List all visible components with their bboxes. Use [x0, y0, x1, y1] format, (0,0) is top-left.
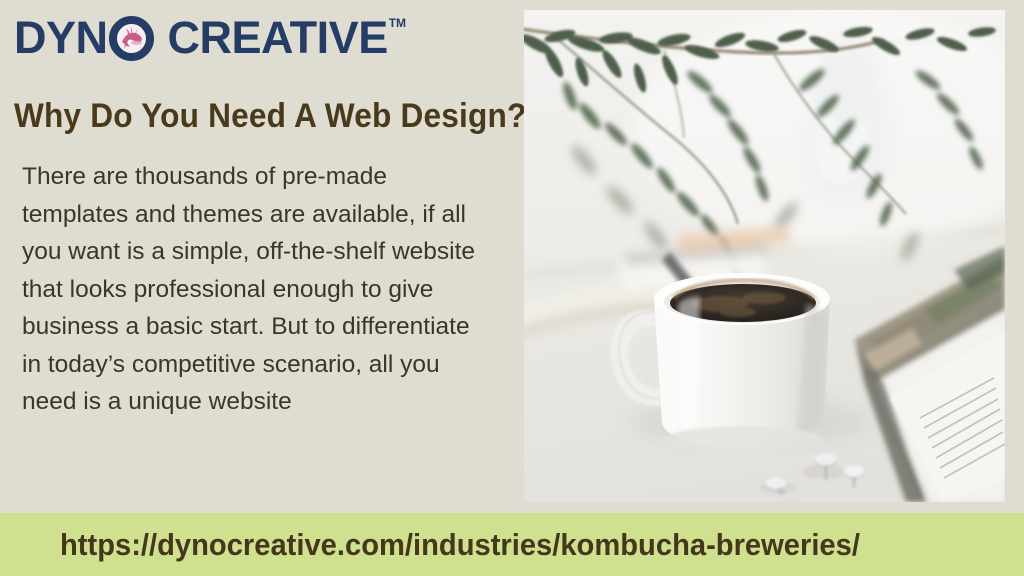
trademark-symbol: TM	[389, 17, 406, 29]
hero-photo	[524, 10, 1005, 502]
website-url[interactable]: https://dynocreative.com/industries/komb…	[60, 528, 860, 562]
logo-word-creative: CREATIVE	[168, 14, 388, 62]
left-content-column: DYN CREATIVE TM Why Do You Need A W	[0, 0, 520, 513]
logo-word-dyn: DYN	[14, 14, 108, 62]
footer-url-bar: https://dynocreative.com/industries/komb…	[0, 513, 1024, 576]
dinosaur-icon	[117, 24, 146, 53]
slide-body-text: There are thousands of pre-made template…	[22, 158, 492, 421]
logo-wordmark: DYN CREATIVE	[14, 14, 388, 62]
logo-o-mark	[109, 16, 154, 61]
slide-headline: Why Do You Need A Web Design?	[14, 97, 479, 135]
presentation-slide: DYN CREATIVE TM Why Do You Need A W	[0, 0, 1024, 576]
brand-logo: DYN CREATIVE TM	[14, 14, 406, 62]
